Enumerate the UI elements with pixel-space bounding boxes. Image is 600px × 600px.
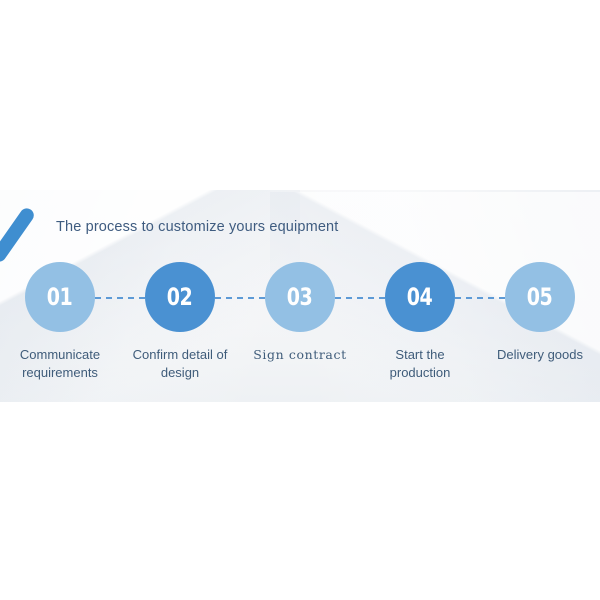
page-title: The process to customize yours equipment: [56, 219, 338, 235]
step-circle-01[interactable]: 01: [25, 262, 95, 332]
step-label-05: Delivery goods: [497, 346, 583, 364]
step-connector-02: [215, 297, 265, 299]
process-step-03[interactable]: 03 Sign contract: [240, 262, 360, 402]
step-label-04: Start the production: [364, 346, 476, 383]
step-label-01: Communicate requirements: [4, 346, 116, 383]
step-number-02: 02: [167, 285, 193, 309]
step-number-01: 01: [47, 285, 73, 309]
infographic-stage: The process to customize yours equipment…: [0, 0, 600, 600]
step-label-03: Sign contract: [253, 346, 346, 364]
step-label-02: Confirm detail of design: [124, 346, 236, 383]
step-connector-01: [95, 297, 145, 299]
step-number-05: 05: [527, 285, 553, 309]
process-step-04[interactable]: 04 Start the production: [360, 262, 480, 402]
step-circle-02[interactable]: 02: [145, 262, 215, 332]
step-connector-03: [335, 297, 385, 299]
process-step-05[interactable]: 05 Delivery goods: [480, 262, 600, 402]
step-number-04: 04: [407, 285, 433, 309]
step-connector-04: [455, 297, 505, 299]
process-steps: 01 Communicate requirements 02 Confirm d…: [0, 262, 600, 402]
step-circle-05[interactable]: 05: [505, 262, 575, 332]
step-circle-04[interactable]: 04: [385, 262, 455, 332]
process-step-02[interactable]: 02 Confirm detail of design: [120, 262, 240, 402]
step-number-03: 03: [287, 285, 313, 309]
process-step-01[interactable]: 01 Communicate requirements: [0, 262, 120, 402]
step-circle-03[interactable]: 03: [265, 262, 335, 332]
